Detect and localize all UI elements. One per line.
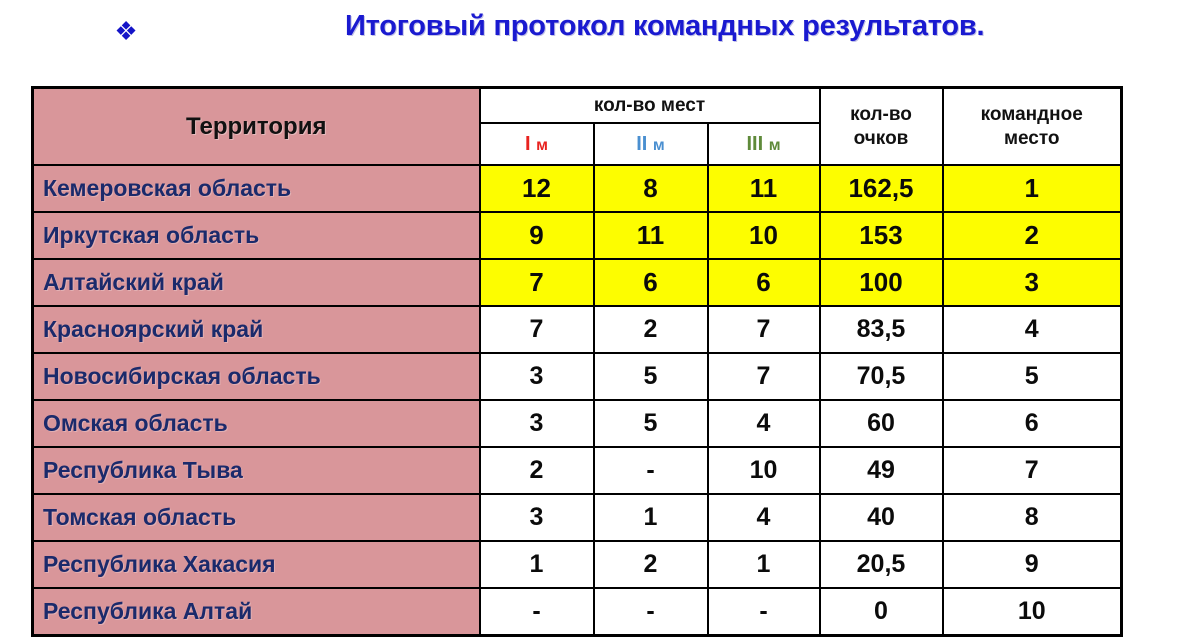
- cell-team-place: 1: [943, 165, 1122, 212]
- cell-place-2-count: 11: [594, 212, 708, 259]
- place-1-roman: I: [525, 133, 531, 155]
- place-3-roman: III: [746, 133, 763, 155]
- cell-territory: Новосибирская область: [33, 353, 480, 400]
- cell-place-3-count: 4: [708, 400, 820, 447]
- cell-place-1-count: 2: [480, 447, 594, 494]
- cell-territory: Омская область: [33, 400, 480, 447]
- column-header-places-group: кол-во мест: [480, 88, 820, 124]
- table-row: Республика Алтай---010: [33, 588, 1122, 636]
- cell-place-1-count: 3: [480, 400, 594, 447]
- cell-place-2-count: -: [594, 447, 708, 494]
- cell-points: 153: [820, 212, 943, 259]
- cell-place-2-count: 6: [594, 259, 708, 306]
- cell-place-3-count: -: [708, 588, 820, 636]
- cell-place-3-count: 6: [708, 259, 820, 306]
- table-row: Кемеровская область12811162,51: [33, 165, 1122, 212]
- column-header-place-1: I м: [480, 123, 594, 165]
- column-header-points: кол-во очков: [820, 88, 943, 166]
- team-place-header-line2: место: [1004, 128, 1060, 149]
- cell-team-place: 8: [943, 494, 1122, 541]
- cell-points: 0: [820, 588, 943, 636]
- cell-points: 83,5: [820, 306, 943, 353]
- cell-territory: Красноярский край: [33, 306, 480, 353]
- cell-team-place: 7: [943, 447, 1122, 494]
- cell-place-1-count: 3: [480, 494, 594, 541]
- cell-place-2-count: 5: [594, 400, 708, 447]
- cell-place-3-count: 4: [708, 494, 820, 541]
- cell-place-2-count: 8: [594, 165, 708, 212]
- cell-territory: Алтайский край: [33, 259, 480, 306]
- table-row: Иркутская область911101532: [33, 212, 1122, 259]
- table-body: Кемеровская область12811162,51Иркутская …: [33, 165, 1122, 636]
- points-header-line1: кол-во: [850, 104, 912, 125]
- table-row: Республика Тыва2-10497: [33, 447, 1122, 494]
- cell-territory: Кемеровская область: [33, 165, 480, 212]
- cell-territory: Иркутская область: [33, 212, 480, 259]
- cell-place-2-count: 1: [594, 494, 708, 541]
- cell-place-3-count: 1: [708, 541, 820, 588]
- cell-territory: Республика Тыва: [33, 447, 480, 494]
- place-2-roman: II: [636, 133, 647, 155]
- cell-place-3-count: 10: [708, 447, 820, 494]
- place-2-suffix: м: [653, 137, 665, 154]
- table-row: Республика Хакасия12120,59: [33, 541, 1122, 588]
- table-row: Алтайский край7661003: [33, 259, 1122, 306]
- cell-place-1-count: 12: [480, 165, 594, 212]
- cell-place-1-count: 9: [480, 212, 594, 259]
- table-row: Новосибирская область35770,55: [33, 353, 1122, 400]
- cell-points: 162,5: [820, 165, 943, 212]
- column-header-place-3: III м: [708, 123, 820, 165]
- cell-place-1-count: 7: [480, 259, 594, 306]
- cell-place-3-count: 7: [708, 306, 820, 353]
- cell-team-place: 2: [943, 212, 1122, 259]
- points-header-line2: очков: [854, 128, 909, 149]
- team-place-header-line1: командное: [981, 104, 1083, 125]
- place-1-suffix: м: [536, 137, 548, 154]
- cell-place-2-count: 2: [594, 541, 708, 588]
- cell-place-2-count: -: [594, 588, 708, 636]
- cell-place-3-count: 10: [708, 212, 820, 259]
- results-table: Территория кол-во мест кол-во очков кома…: [31, 86, 1123, 637]
- table-row: Томская область314408: [33, 494, 1122, 541]
- cell-team-place: 9: [943, 541, 1122, 588]
- cell-team-place: 5: [943, 353, 1122, 400]
- diamond-cluster-icon: ❖: [112, 17, 140, 45]
- column-header-team-place: командное место: [943, 88, 1122, 166]
- table-row: Омская область354606: [33, 400, 1122, 447]
- cell-place-1-count: 3: [480, 353, 594, 400]
- cell-team-place: 10: [943, 588, 1122, 636]
- cell-team-place: 4: [943, 306, 1122, 353]
- header-row-top: Территория кол-во мест кол-во очков кома…: [33, 88, 1122, 124]
- cell-territory: Томская область: [33, 494, 480, 541]
- cell-points: 20,5: [820, 541, 943, 588]
- cell-points: 49: [820, 447, 943, 494]
- column-header-territory: Территория: [33, 88, 480, 166]
- cell-territory: Республика Алтай: [33, 588, 480, 636]
- cell-team-place: 3: [943, 259, 1122, 306]
- table-header: Территория кол-во мест кол-во очков кома…: [33, 88, 1122, 166]
- cell-team-place: 6: [943, 400, 1122, 447]
- cell-place-1-count: -: [480, 588, 594, 636]
- cell-points: 100: [820, 259, 943, 306]
- cell-place-2-count: 2: [594, 306, 708, 353]
- cell-territory: Республика Хакасия: [33, 541, 480, 588]
- place-3-suffix: м: [769, 137, 781, 154]
- cell-points: 60: [820, 400, 943, 447]
- cell-place-1-count: 7: [480, 306, 594, 353]
- cell-place-3-count: 11: [708, 165, 820, 212]
- cell-points: 40: [820, 494, 943, 541]
- cell-place-1-count: 1: [480, 541, 594, 588]
- cell-place-2-count: 5: [594, 353, 708, 400]
- table-row: Красноярский край72783,54: [33, 306, 1122, 353]
- column-header-place-2: II м: [594, 123, 708, 165]
- page-title: Итоговый протокол командных результатов.: [345, 10, 1065, 43]
- title-bar: ❖ Итоговый протокол командных результато…: [0, 0, 1200, 70]
- cell-place-3-count: 7: [708, 353, 820, 400]
- cell-points: 70,5: [820, 353, 943, 400]
